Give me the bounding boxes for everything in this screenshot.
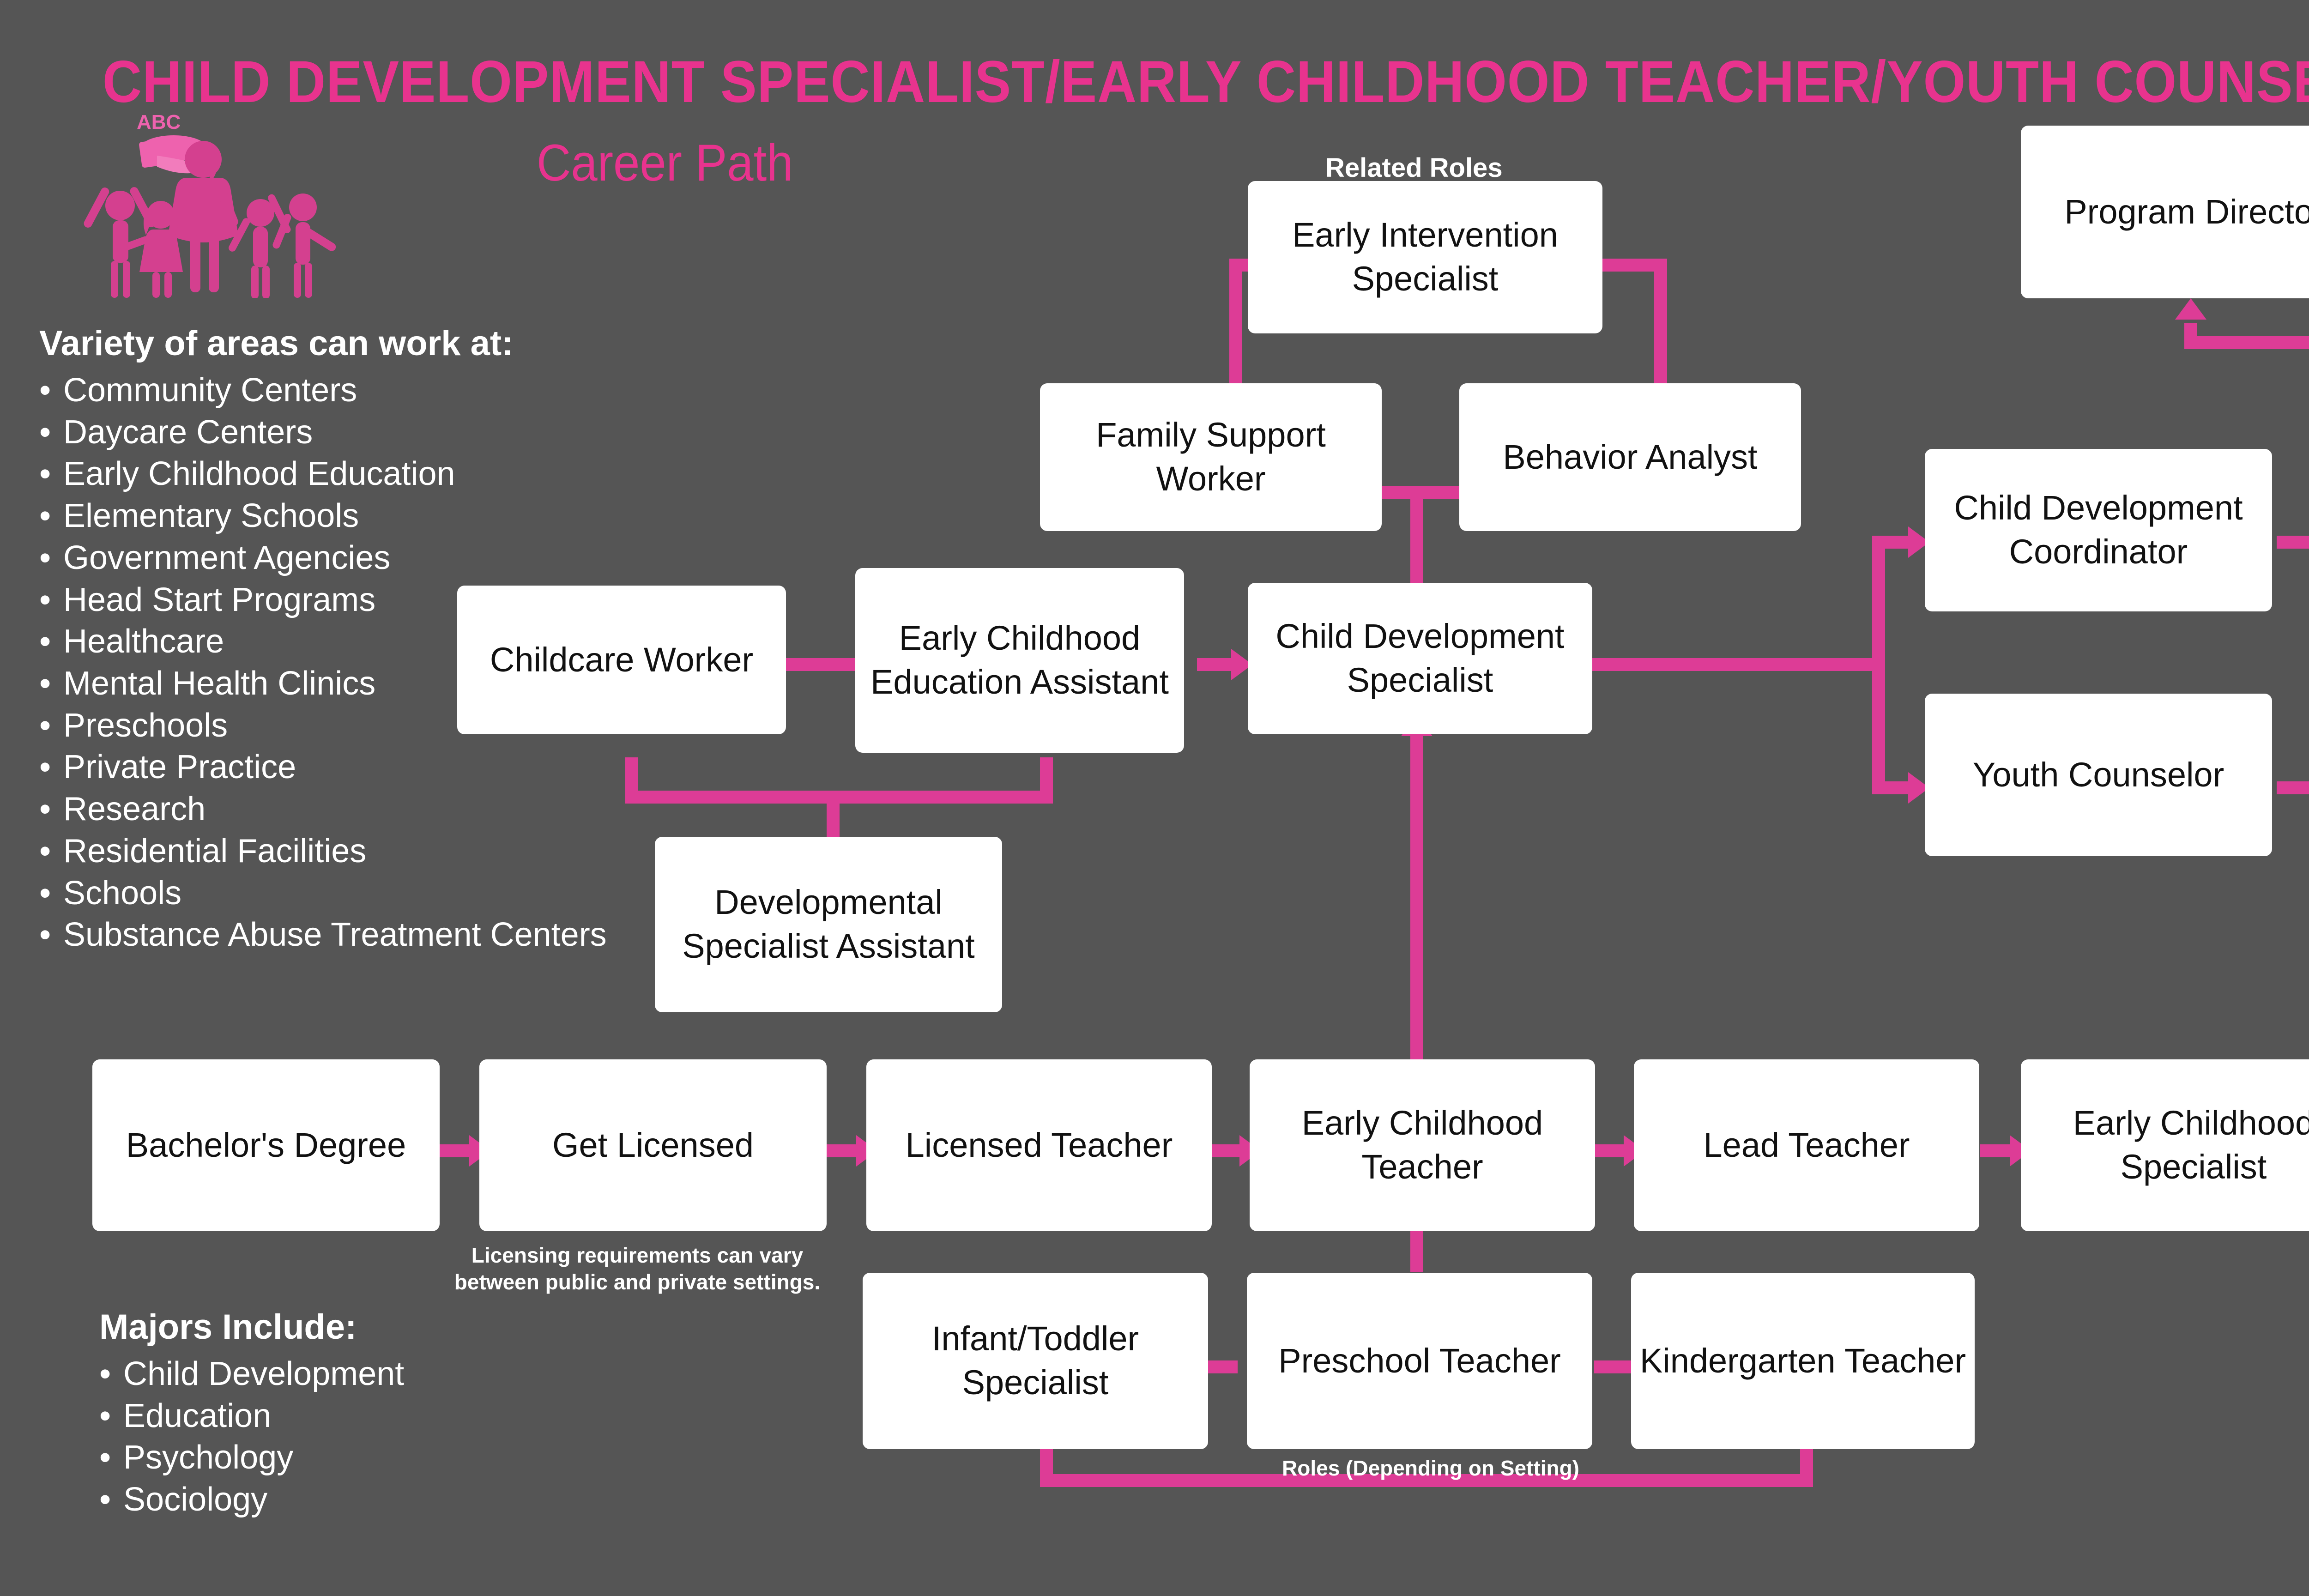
connector xyxy=(1654,259,1667,393)
list-item: Schools xyxy=(39,872,607,914)
connector xyxy=(1197,658,1234,671)
node-family-support-worker[interactable]: Family Support Worker xyxy=(1040,383,1382,531)
list-item: Early Childhood Education xyxy=(39,453,607,495)
node-get-licensed[interactable]: Get Licensed xyxy=(479,1059,827,1231)
list-item: Education xyxy=(99,1395,404,1437)
areas-heading: Variety of areas can work at: xyxy=(39,323,513,363)
connector xyxy=(1872,536,1885,794)
career-path-diagram: CHILD DEVELOPMENT SPECIALIST/EARLY CHILD… xyxy=(0,0,2309,1596)
arrowhead-icon xyxy=(2175,298,2206,320)
majors-list: Child Development Education Psychology S… xyxy=(99,1353,404,1521)
majors-heading: Majors Include: xyxy=(99,1307,357,1347)
node-preschool-teacher[interactable]: Preschool Teacher xyxy=(1247,1273,1592,1449)
node-developmental-specialist-assistant[interactable]: Developmental Specialist Assistant xyxy=(655,837,1002,1012)
list-item: Elementary Schools xyxy=(39,495,607,537)
connector xyxy=(827,791,840,841)
page-subtitle: Career Path xyxy=(537,133,793,193)
connector xyxy=(1594,1360,1634,1373)
list-item: Community Centers xyxy=(39,369,607,411)
connector xyxy=(1592,658,1879,671)
connector xyxy=(786,658,855,671)
node-bachelors-degree[interactable]: Bachelor's Degree xyxy=(92,1059,440,1231)
connector xyxy=(2277,536,2309,549)
node-lead-teacher[interactable]: Lead Teacher xyxy=(1634,1059,1979,1231)
connector xyxy=(1410,486,1423,592)
node-infant-toddler-specialist[interactable]: Infant/Toddler Specialist xyxy=(863,1273,1208,1449)
connector xyxy=(2184,336,2309,349)
node-childcare-worker[interactable]: Childcare Worker xyxy=(457,586,786,734)
node-licensed-teacher[interactable]: Licensed Teacher xyxy=(866,1059,1212,1231)
children-and-teacher-icon: ABC xyxy=(65,104,443,298)
list-item: Child Development xyxy=(99,1353,404,1395)
node-program-director[interactable]: Program Director xyxy=(2021,126,2309,298)
node-child-development-coordinator[interactable]: Child Development Coordinator xyxy=(1925,449,2272,611)
connector xyxy=(1229,259,1242,393)
connector xyxy=(2184,323,2197,349)
list-item: Research xyxy=(39,788,607,830)
node-youth-counselor[interactable]: Youth Counselor xyxy=(1925,694,2272,856)
list-item: Government Agencies xyxy=(39,537,607,579)
svg-text:ABC: ABC xyxy=(137,111,181,133)
node-behavior-analyst[interactable]: Behavior Analyst xyxy=(1459,383,1801,531)
node-early-childhood-specialist[interactable]: Early Childhood Specialist xyxy=(2021,1059,2309,1231)
node-child-development-specialist[interactable]: Child Development Specialist xyxy=(1248,583,1592,734)
roles-depending-caption: Roles (Depending on Setting) xyxy=(1282,1456,1579,1481)
list-item: Private Practice xyxy=(39,746,607,788)
node-early-childhood-teacher[interactable]: Early Childhood Teacher xyxy=(1250,1059,1595,1231)
node-kindergarten-teacher[interactable]: Kindergarten Teacher xyxy=(1631,1273,1975,1449)
list-item: Residential Facilities xyxy=(39,830,607,872)
list-item: Psychology xyxy=(99,1437,404,1479)
related-roles-caption: Related Roles xyxy=(1325,152,1503,183)
connector xyxy=(1410,734,1423,1071)
list-item: Sociology xyxy=(99,1479,404,1521)
connector xyxy=(2277,781,2309,794)
list-item: Daycare Centers xyxy=(39,411,607,453)
node-early-childhood-education-assistant[interactable]: Early Childhood Education Assistant xyxy=(855,568,1184,753)
list-item: Substance Abuse Treatment Centers xyxy=(39,914,607,956)
node-early-intervention-specialist[interactable]: Early Intervention Specialist xyxy=(1248,181,1602,333)
licensing-note: Licensing requirements can vary between … xyxy=(443,1242,831,1295)
